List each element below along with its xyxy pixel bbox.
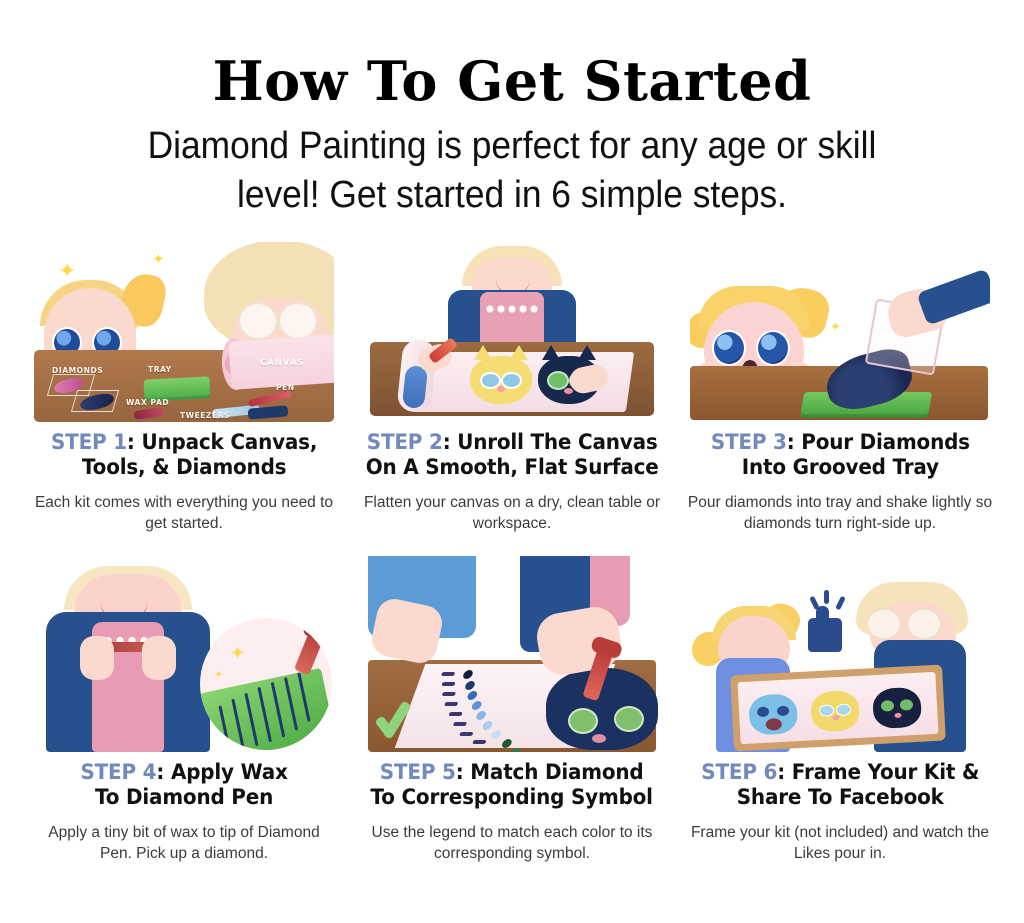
cat-black-eye-left [547,371,569,390]
girl-eye-left [712,330,746,366]
step-3-separator: : [786,430,794,454]
step-5-heading: STEP 5: Match Diamond To Corresponding S… [371,760,653,810]
page-title: How To Get Started [0,52,1024,110]
step-3-title-line2: Into Grooved Tray [741,455,938,479]
step-6-separator: : [777,760,785,784]
step-4-illustration: ✦ ✦ ✦ [34,556,334,752]
step-3-body: Pour diamonds into tray and shake lightl… [688,492,993,534]
step-card-3: ✦ ✦ STEP 3: Pour Diamond [678,242,1002,534]
grandma-glasses-right [906,608,942,640]
sparkle-icon: ✦ [230,644,245,662]
pearl-necklace [484,304,540,314]
cat-blue-eye-right [777,706,790,717]
page-subtitle: Diamond Painting is perfect for any age … [112,122,912,220]
cat-yellow [810,690,860,732]
thumbs-up-icon [808,618,842,652]
cat-eye-left [568,708,598,734]
step-3-number: STEP 3 [710,430,786,454]
step-5-body: Use the legend to match each color to it… [360,822,665,864]
step-1-title-line1: Unpack Canvas, [141,430,317,454]
step-4-number: STEP 4 [80,760,156,784]
label-tray: TRAY [148,365,172,374]
step-6-heading: STEP 6: Frame Your Kit & Share To Facebo… [701,760,979,810]
step-1-title-line2: Tools, & Diamonds [82,455,286,479]
infographic-page: How To Get Started Diamond Painting is p… [0,0,1024,923]
woman-hand-left [80,636,114,680]
label-diamonds: DIAMONDS [52,366,103,375]
label-tweezers: TWEEZERS [180,411,230,420]
step-card-1: ✦ ✦ ✦ ✦ CANVAS [22,242,346,534]
step-2-title-line2: On A Smooth, Flat Surface [366,455,659,479]
picture-frame [730,665,946,752]
step-2-title-line1: Unroll The Canvas [457,430,657,454]
step-1-number: STEP 1 [51,430,127,454]
step-5-number: STEP 5 [380,760,456,784]
checkmark-icon [378,698,424,744]
sparkle-icon: ✦ [214,670,223,681]
magnifier-circle: ✦ ✦ ✦ [200,618,332,750]
step-5-title-line2: To Corresponding Symbol [371,785,653,809]
cat-yellow-eye-left [819,704,835,717]
step-card-4: ✦ ✦ ✦ STEP 4: Ap [22,556,346,864]
step-5-separator: : [456,760,464,784]
grandma-glasses-left [238,302,278,340]
step-4-title-line2: To Diamond Pen [95,785,273,809]
step-4-title-line1: Apply Wax [171,760,288,784]
cat-black-nose [894,713,901,718]
cat-yellow-nose [832,715,839,720]
step-4-heading: STEP 4: Apply Wax To Diamond Pen [80,760,287,810]
sparkle-icon: ✦ [152,252,165,267]
cat-blue-eye-left [757,707,770,718]
label-pen: PEN [276,383,295,392]
sparkle-icon: ✦ [58,260,76,282]
finished-canvas [738,672,939,744]
step-card-2: STEP 2: Unroll The Canvas On A Smooth, F… [350,242,674,534]
step-5-illustration [362,556,662,752]
grandma-glasses-left [866,608,902,640]
cat-nose [592,734,606,743]
sparkle-icon: ✦ [830,320,841,333]
step-4-separator: : [156,760,164,784]
header: How To Get Started Diamond Painting is p… [0,0,1024,220]
cat-yellow-nose [497,386,505,392]
cat-black-eye-left [881,700,895,712]
cat-black-eye-right [900,699,914,711]
step-3-heading: STEP 3: Pour Diamonds Into Grooved Tray [710,430,969,480]
step-2-separator: : [443,430,451,454]
girl-eye-right [756,330,790,366]
grandma-glasses-right [278,302,318,340]
step-3-illustration: ✦ ✦ [690,242,990,422]
cat-eye-right [614,706,644,732]
cat-black [872,687,922,729]
step-6-number: STEP 6 [701,760,777,784]
step-2-heading: STEP 2: Unroll The Canvas On A Smooth, F… [366,430,659,480]
step-1-illustration: ✦ ✦ ✦ ✦ CANVAS [34,242,334,422]
sleeve-arm [916,268,990,325]
steps-row-2: ✦ ✦ ✦ STEP 4: Ap [0,556,1024,864]
step-6-body: Frame your kit (not included) and watch … [688,822,993,864]
step-1-separator: : [127,430,135,454]
step-card-5: STEP 5: Match Diamond To Corresponding S… [350,556,674,864]
label-wax-pad: WAX PAD [126,398,169,407]
cat-blue-mouth [765,718,782,731]
step-2-number: STEP 2 [367,430,443,454]
step-6-illustration [690,556,990,752]
cat-black-nose [564,388,573,394]
step-3-title-line1: Pour Diamonds [801,430,970,454]
steps-row-1: ✦ ✦ ✦ ✦ CANVAS [0,242,1024,534]
step-4-body: Apply a tiny bit of wax to tip of Diamon… [32,822,337,864]
woman-hand-right [142,636,176,680]
step-1-body: Each kit comes with everything you need … [32,492,337,534]
cat-blue [748,693,798,735]
cat-yellow-eye-right [836,703,852,716]
cat-yellow [470,356,532,404]
step-5-title-line1: Match Diamond [471,760,644,784]
spark-line-icon [835,596,846,611]
step-1-heading: STEP 1: Unpack Canvas, Tools, & Diamonds [51,430,317,480]
step-2-body: Flatten your canvas on a dry, clean tabl… [360,492,665,534]
diamond-pen-zoom [294,627,326,676]
step-2-illustration [362,242,662,422]
step-6-title-line2: Share To Facebook [737,785,944,809]
step-card-6: STEP 6: Frame Your Kit & Share To Facebo… [678,556,1002,864]
label-canvas: CANVAS [260,358,305,368]
step-6-title-line1: Frame Your Kit & [792,760,979,784]
spark-line-icon [824,590,829,604]
